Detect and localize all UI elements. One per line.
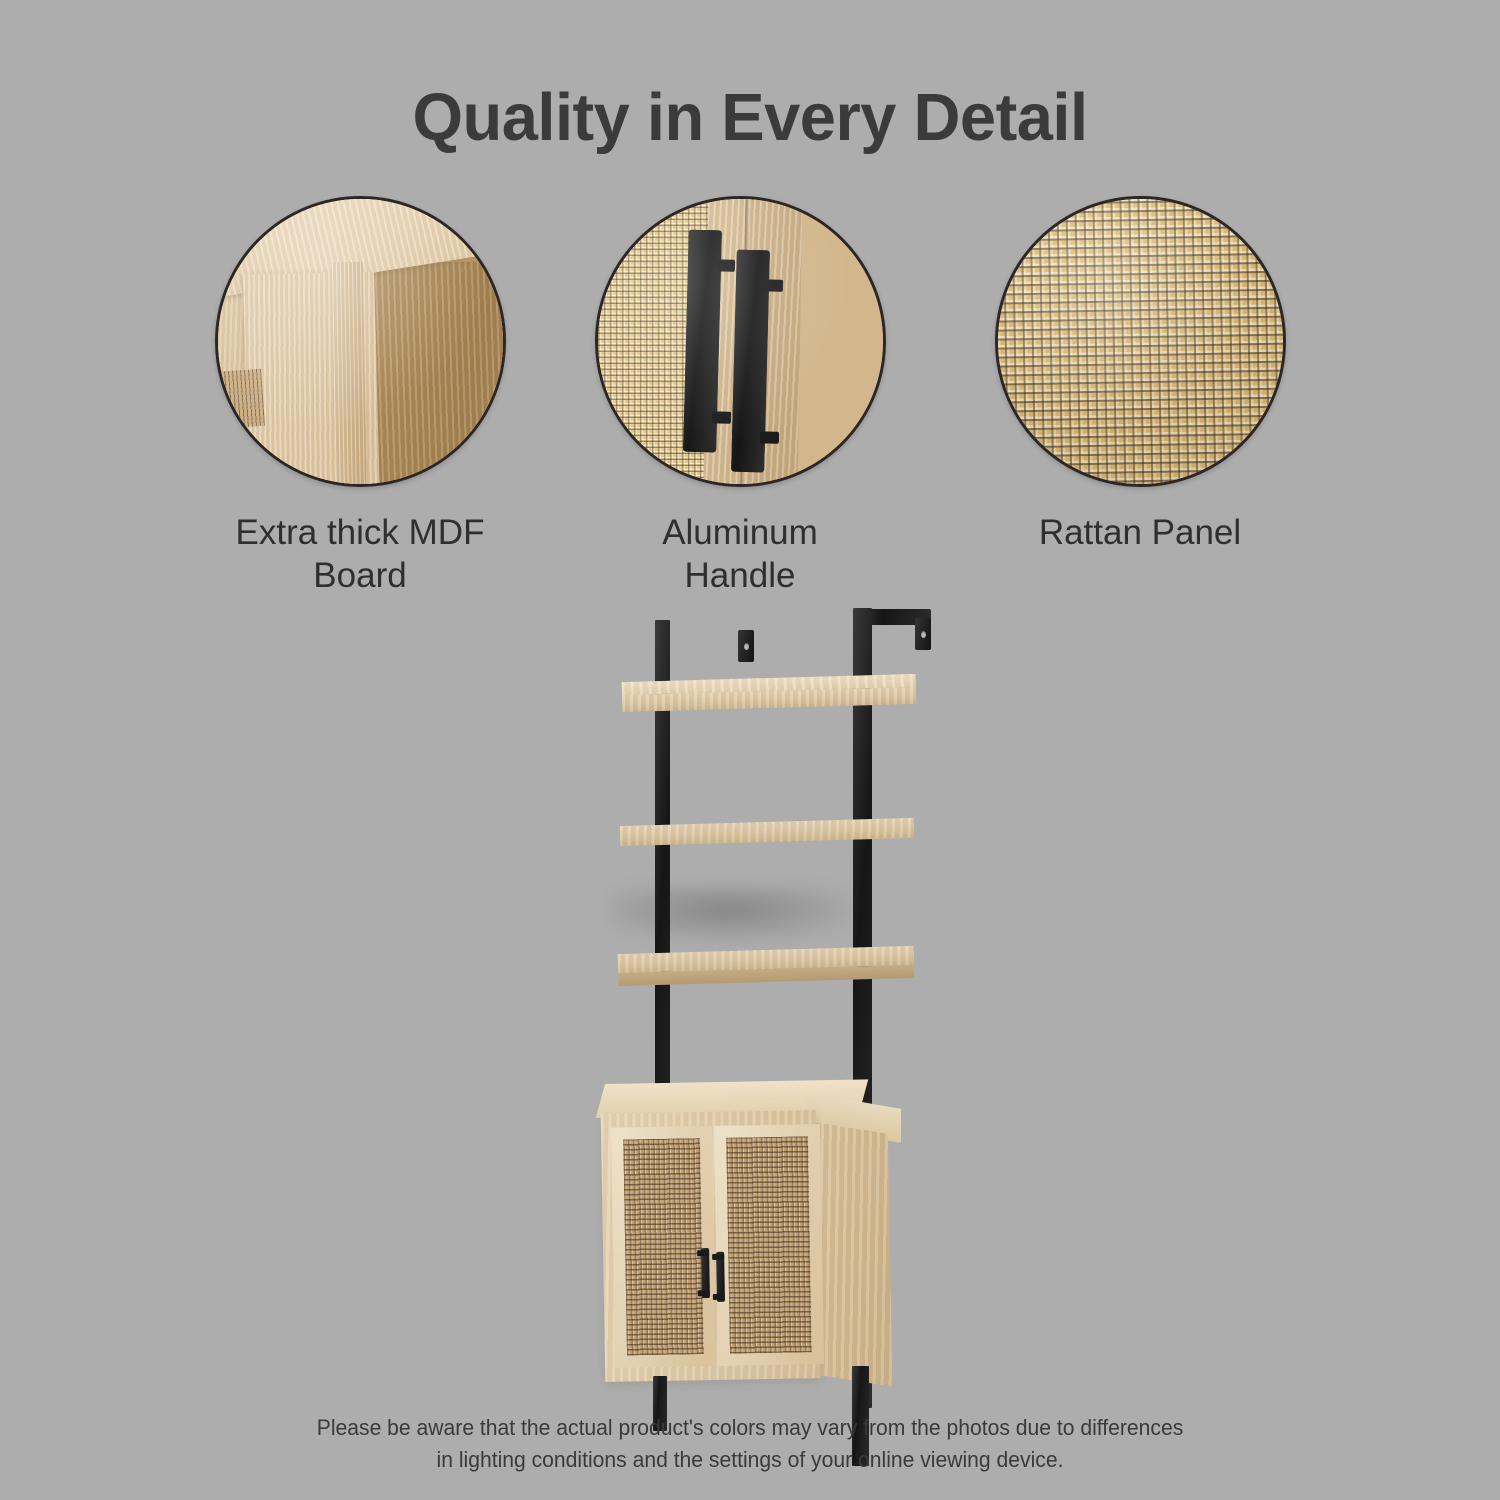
- rattan-weave-photo: [998, 199, 1283, 484]
- wall-mount-plate-left: [738, 630, 754, 662]
- handle-foot-top: [712, 1254, 724, 1260]
- cabinet-door-right[interactable]: [714, 1124, 824, 1366]
- feature-caption-rattan: Rattan Panel: [975, 511, 1305, 554]
- screw-hole-icon: [744, 643, 749, 650]
- handle-foot-top: [697, 1250, 709, 1256]
- cabinet-door-left[interactable]: [611, 1126, 716, 1368]
- feature-card-mdf: Extra thick MDF Board: [195, 196, 525, 597]
- feature-caption-handle: Aluminum Handle: [575, 511, 905, 597]
- product-floor-shadow: [610, 886, 870, 946]
- feature-image-mdf: [215, 196, 506, 487]
- feature-row: Extra thick MDF Board: [0, 196, 1500, 596]
- disclaimer-line-1: Please be aware that the actual product'…: [30, 1412, 1470, 1444]
- cabinet: [595, 1078, 905, 1408]
- feature-caption-mdf: Extra thick MDF Board: [195, 511, 525, 597]
- product-photo: [0, 590, 1500, 1410]
- handle-foot-bottom: [698, 1290, 710, 1296]
- mdf-highlight: [218, 199, 503, 484]
- page-title: Quality in Every Detail: [23, 78, 1478, 158]
- disclaimer-line-2: in lighting conditions and the settings …: [30, 1444, 1470, 1476]
- feature-card-handle: Aluminum Handle: [575, 196, 905, 597]
- cabinet-handle-left[interactable]: [701, 1248, 710, 1298]
- ladder-shelf-unit: [600, 590, 930, 1410]
- disclaimer: Please be aware that the actual product'…: [30, 1412, 1470, 1476]
- rattan-highlight: [998, 199, 1283, 484]
- handle-foot-bottom: [713, 1294, 725, 1300]
- feature-image-rattan: [995, 196, 1286, 487]
- feature-card-rattan: Rattan Panel: [975, 196, 1305, 554]
- aluminum-handle-photo: [598, 199, 883, 484]
- feature-image-handle: [595, 196, 886, 487]
- cabinet-side-panel: [813, 1122, 892, 1387]
- cabinet-front-frame: [601, 1110, 821, 1382]
- cabinet-handle-right[interactable]: [716, 1252, 725, 1302]
- mdf-wood-corner-photo: [218, 199, 503, 484]
- handle-highlight: [598, 199, 883, 484]
- wall-mount-plate-right: [915, 618, 931, 650]
- screw-hole-icon: [921, 631, 926, 638]
